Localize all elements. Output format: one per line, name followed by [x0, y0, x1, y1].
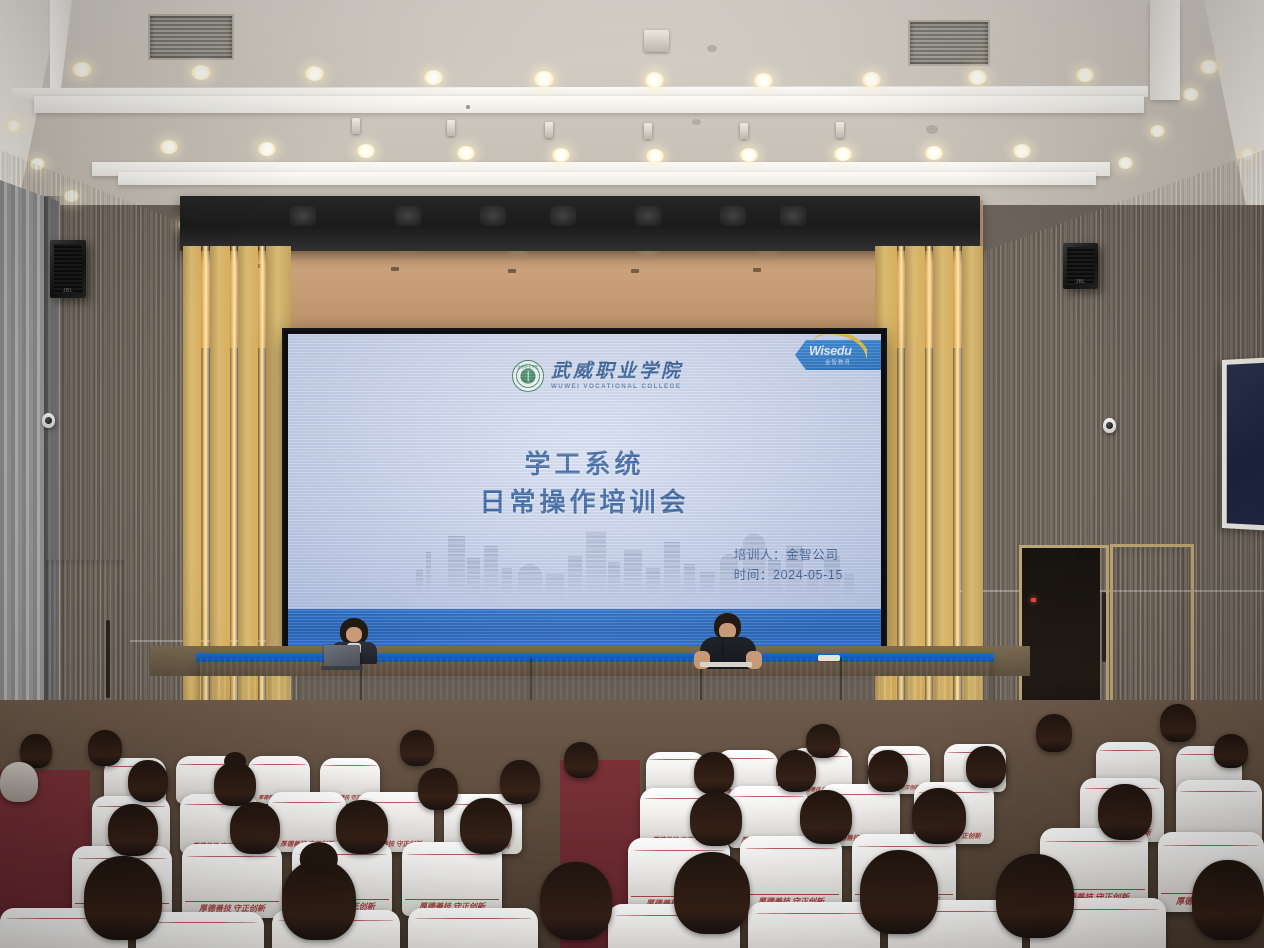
recessed-downlight	[534, 71, 554, 87]
speaker-presenter-right	[694, 613, 762, 669]
recessed-downlight	[72, 62, 92, 77]
audience-area: 厚德善技 守正创新 厚德善技 守正创新 厚德善技 守正创新 厚德善技 守正创新 …	[0, 700, 1264, 948]
recessed-downlight	[834, 147, 852, 161]
recessed-downlight	[160, 140, 178, 154]
hvac-vent	[908, 20, 990, 66]
recessed-downlight	[862, 72, 881, 87]
wisedu-brand-sub: 金智教育	[825, 358, 851, 366]
stage-fin-column-right	[875, 246, 983, 701]
audience-head	[84, 856, 162, 940]
audience-head	[1192, 860, 1264, 940]
stage-ceiling-fitting	[508, 269, 516, 273]
audience-head	[564, 742, 598, 778]
audience-head	[1160, 704, 1196, 742]
valance-highlight	[550, 206, 576, 226]
valance-highlight	[780, 206, 806, 226]
audience-head	[1214, 734, 1248, 768]
wall-display-panel	[1222, 357, 1264, 531]
recessed-downlight	[305, 66, 324, 81]
stage-ceiling-fitting	[391, 267, 399, 271]
audience-head	[1098, 784, 1152, 840]
wall-fin	[962, 246, 983, 701]
stage-fin-column-left	[183, 246, 291, 701]
laptop-base[interactable]	[321, 666, 363, 670]
recessed-downlight	[1013, 144, 1031, 158]
logo-text-block: 武威职业学院 WUWEI VOCATIONAL COLLEGE	[551, 362, 683, 390]
security-camera-left	[42, 413, 55, 428]
recessed-downlight	[1150, 125, 1165, 137]
audience-head	[418, 768, 458, 810]
ceiling-beam-upper-face	[34, 96, 1144, 113]
hvac-vent	[148, 14, 234, 60]
audience-head	[88, 730, 122, 766]
wall-fin	[933, 246, 953, 701]
track-light	[352, 118, 360, 134]
recessed-downlight	[357, 144, 375, 158]
valance-highlight	[290, 206, 316, 226]
recessed-downlight	[646, 149, 664, 163]
security-camera-right	[1103, 418, 1116, 433]
track-light	[740, 123, 748, 139]
chair-shading	[408, 908, 538, 948]
valance-highlight	[635, 206, 661, 226]
fin-light-strip	[925, 246, 933, 701]
led-screen[interactable]: 武威职业学院 武威职业学院 WUWEI VOCATIONAL COLLEGE W…	[288, 334, 881, 647]
wisedu-swoosh-icon	[809, 334, 867, 358]
table-device	[818, 655, 840, 661]
recessed-downlight	[1118, 157, 1133, 169]
seal-tree-emblem	[521, 369, 536, 384]
ceiling	[0, 0, 1264, 205]
recessed-downlight	[1183, 88, 1199, 101]
track-light	[545, 122, 553, 138]
ceiling-sensor	[926, 125, 938, 134]
chair-shading	[182, 844, 282, 918]
panel-screen	[1227, 362, 1264, 525]
college-seal-icon: 武威职业学院	[512, 360, 544, 392]
stage-ceiling-fitting	[753, 268, 761, 272]
fin-light-strip	[897, 246, 905, 701]
slide-college-logo: 武威职业学院 武威职业学院 WUWEI VOCATIONAL COLLEGE	[512, 360, 683, 392]
recessed-downlight	[6, 120, 21, 132]
recessed-downlight	[925, 146, 943, 160]
ceiling-projector-mount	[644, 30, 669, 52]
slide-title-line1: 学工系统	[288, 446, 881, 484]
valance-highlight	[480, 206, 506, 226]
audience-head	[674, 852, 750, 934]
fin-light-strip	[201, 246, 210, 701]
audience-head	[128, 760, 168, 802]
audience-head	[860, 850, 938, 934]
stage-valance	[180, 196, 980, 251]
audience-head	[400, 730, 434, 766]
college-name-en: WUWEI VOCATIONAL COLLEGE	[551, 383, 683, 390]
fin-light-strip	[953, 246, 962, 701]
recessed-downlight	[740, 148, 758, 162]
stage-ceiling-fitting	[631, 269, 639, 273]
recessed-downlight	[552, 148, 570, 162]
audience-head	[500, 760, 540, 804]
speaker-brand-label: JBL	[1063, 279, 1098, 285]
recessed-downlight	[1076, 68, 1094, 82]
fin-light-strip	[230, 246, 238, 701]
left-door-handle[interactable]	[106, 620, 110, 698]
audience-head	[868, 750, 908, 792]
recessed-downlight	[424, 70, 443, 85]
college-name-cn: 武威职业学院	[551, 362, 683, 381]
ceiling-sensor	[707, 45, 717, 52]
valance-highlight	[720, 206, 746, 226]
valance-highlight	[395, 206, 421, 226]
audience-head	[690, 792, 742, 846]
audience-head	[912, 788, 966, 844]
recessed-downlight	[457, 146, 475, 160]
audience-head	[540, 862, 612, 940]
slide-title: 学工系统 日常操作培训会	[288, 446, 881, 521]
ceiling-beam-lower-face	[118, 172, 1096, 185]
audience-head	[0, 762, 38, 802]
audience-head	[108, 804, 158, 856]
wall-speaker-right: JBL	[1063, 243, 1098, 289]
audience-head	[776, 750, 816, 792]
presenter-papers	[700, 662, 752, 667]
slide-trainer: 培训人：金智公司	[734, 545, 843, 565]
exit-indicator-light	[1031, 598, 1036, 602]
recessed-downlight	[968, 70, 987, 85]
audience-head	[996, 854, 1074, 938]
recessed-downlight	[754, 73, 773, 88]
speaker-grill	[54, 244, 82, 294]
right-door-handle[interactable]	[1102, 592, 1106, 662]
audience-head	[806, 724, 840, 758]
operator-face	[346, 627, 362, 642]
recessed-downlight	[645, 72, 664, 88]
track-light	[836, 122, 844, 138]
wall-speaker-left: JBL	[50, 240, 86, 298]
ceiling-sensor	[692, 119, 701, 125]
wall-fin	[210, 246, 230, 701]
audience-head	[694, 752, 734, 794]
table-microphone	[722, 640, 724, 662]
slide-date: 时间：2024-05-15	[734, 565, 843, 585]
audience-head	[1036, 714, 1072, 752]
slide-title-line2: 日常操作培训会	[288, 484, 881, 522]
recessed-downlight	[1200, 60, 1218, 74]
wall-fin	[183, 246, 201, 701]
audience-head	[214, 762, 256, 806]
fin-light-strip	[258, 246, 266, 701]
chair[interactable]: 厚德善技 守正创新	[182, 844, 282, 918]
audience-head	[966, 746, 1006, 788]
chair[interactable]: 厚德善技 守正创新	[408, 908, 538, 948]
auditorium-photo: JBL JBL	[0, 0, 1264, 948]
wall-fin	[905, 246, 925, 701]
ceiling-beam-right-secondary	[1150, 0, 1180, 100]
audience-head	[460, 798, 512, 854]
track-light	[644, 123, 652, 139]
track-light	[447, 120, 455, 136]
slide-meta: 培训人：金智公司 时间：2024-05-15	[734, 545, 843, 586]
audience-head	[336, 800, 388, 854]
audience-head	[230, 802, 280, 854]
chair-shading	[740, 836, 842, 912]
audience-head	[282, 860, 356, 940]
recessed-downlight	[258, 142, 276, 156]
chair[interactable]: 厚德善技 守正创新	[740, 836, 842, 912]
speaker-brand-label: JBL	[50, 288, 86, 294]
sprinkler-head	[466, 105, 470, 109]
wall-fin	[238, 246, 258, 701]
laptop-screen[interactable]	[324, 645, 360, 667]
recessed-downlight	[191, 65, 211, 80]
audience-head	[800, 790, 852, 844]
